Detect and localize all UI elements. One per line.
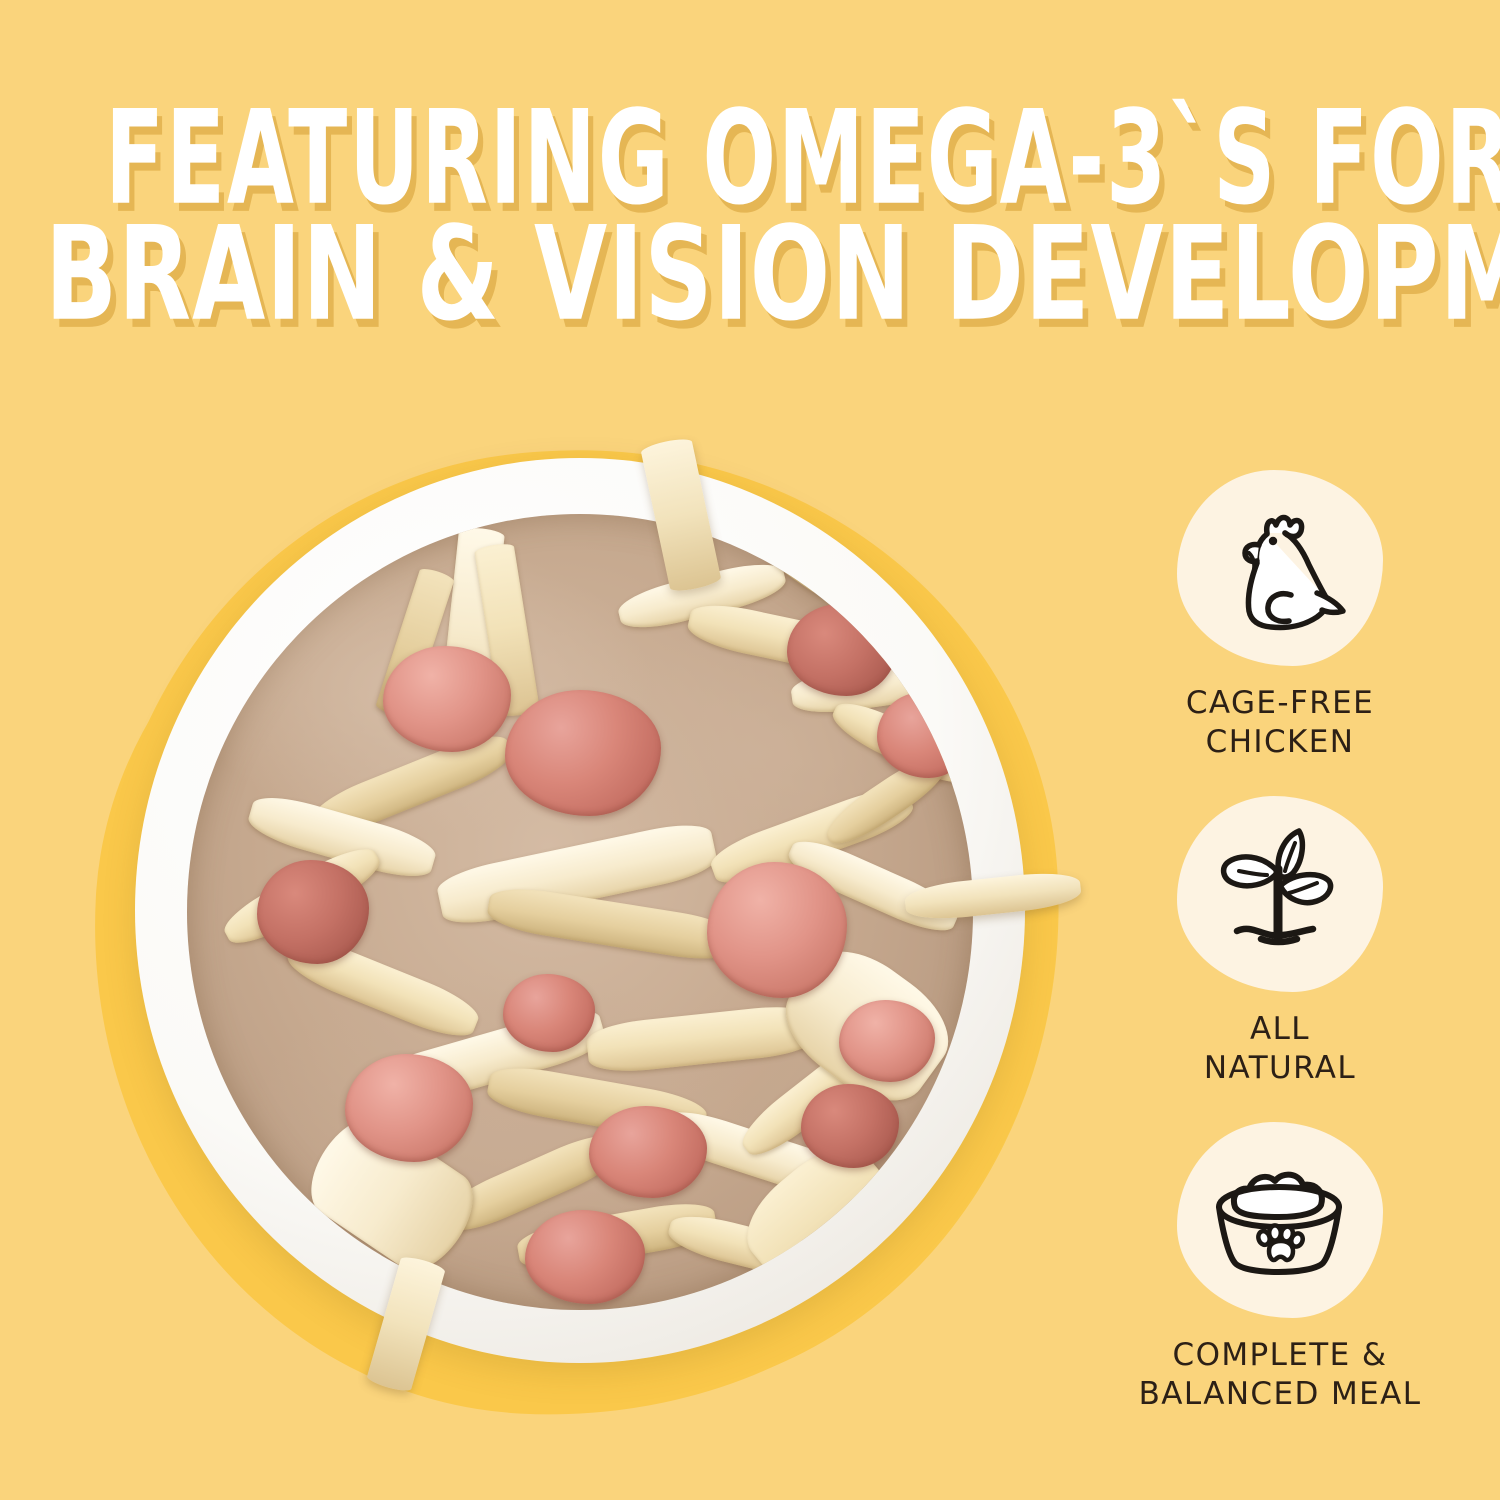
minced-meat-chunk xyxy=(345,1054,473,1162)
minced-meat-chunk xyxy=(787,604,897,696)
minced-meat-chunk xyxy=(505,690,661,816)
badge-label: COMPLETE & BALANCED MEAL xyxy=(1090,1336,1470,1414)
minced-meat-chunk xyxy=(707,862,847,998)
minced-meat-chunk xyxy=(877,692,973,778)
minced-meat-chunk xyxy=(589,1106,707,1198)
minced-meat-chunk xyxy=(383,646,511,752)
badge-cage-free-chicken: CAGE-FREE CHICKEN xyxy=(1090,470,1470,762)
badge-blob xyxy=(1177,796,1383,992)
badge-blob xyxy=(1177,470,1383,666)
feature-badge-list: CAGE-FREE CHICKEN xyxy=(1090,470,1470,1448)
pet-bowl-icon xyxy=(1201,1145,1359,1295)
badge-label: ALL NATURAL xyxy=(1090,1010,1470,1088)
product-feature-card: FEATURING OMEGA-3`S FOR BRAIN & VISION D… xyxy=(0,0,1500,1500)
badge-label: CAGE-FREE CHICKEN xyxy=(1090,684,1470,762)
headline: FEATURING OMEGA-3`S FOR BRAIN & VISION D… xyxy=(0,96,1500,322)
sprout-icon xyxy=(1205,819,1355,969)
minced-meat-chunk xyxy=(503,974,595,1052)
headline-line-2: BRAIN & VISION DEVELOPMENT! xyxy=(45,212,1455,339)
minced-meat-chunk xyxy=(801,1084,899,1168)
minced-meat-chunk xyxy=(525,1210,645,1304)
chicken-icon xyxy=(1205,493,1355,643)
minced-meat-chunk xyxy=(257,860,369,964)
food-bowl xyxy=(135,458,1025,1363)
minced-meat-chunk xyxy=(839,1000,935,1082)
bowl-food-icon xyxy=(1234,1175,1322,1217)
badge-all-natural: ALL NATURAL xyxy=(1090,796,1470,1088)
bowl-rim xyxy=(135,458,1025,1363)
badge-complete-balanced-meal: COMPLETE & BALANCED MEAL xyxy=(1090,1122,1470,1414)
bowl-contents xyxy=(187,514,973,1310)
chicken-eye-icon xyxy=(1269,537,1277,545)
product-photo xyxy=(80,430,1080,1430)
badge-blob xyxy=(1177,1122,1383,1318)
